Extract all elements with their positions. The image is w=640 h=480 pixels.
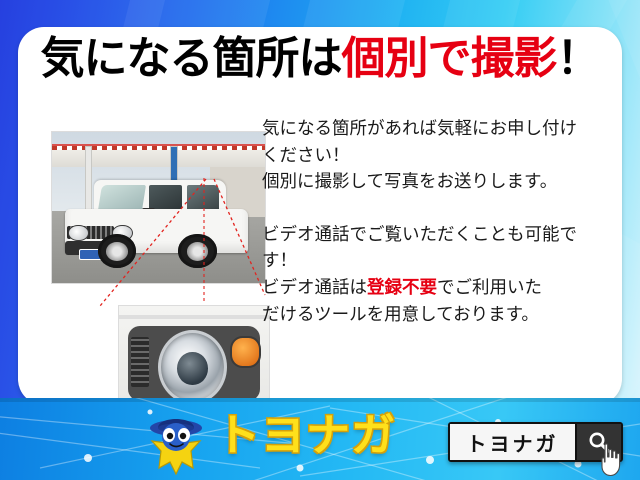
headline-part-3: ！: [557, 34, 600, 83]
paragraph-2-line-3: ビデオ通話は登録不要でご利用いた: [262, 274, 610, 301]
paragraph-2-line-4: だけるツールを用意しております。: [262, 301, 610, 328]
paragraph-2-line-2: す！: [262, 247, 610, 274]
page-title: 気になる箇所は個別で撮影！: [18, 37, 622, 81]
description-text-block: 気になる箇所があれば気軽にお申し付け ください！ 個別に撮影して写真をお送りしま…: [262, 115, 610, 327]
screenshot-root: 気になる箇所は個別で撮影！: [0, 0, 640, 480]
content-card: 気になる箇所は個別で撮影！: [18, 27, 622, 405]
paragraph-1-line-2: ください！: [262, 142, 610, 169]
vehicle-illustration: [65, 182, 248, 267]
headline-part-1: 気になる箇所は: [41, 34, 342, 83]
brand-logo-text: トヨナガ: [216, 414, 396, 458]
main-vehicle-photo: [51, 131, 266, 284]
headlight-detail-photo: [118, 305, 270, 405]
paragraph-2-line-1: ビデオ通話でご覧いただくことも可能で: [262, 221, 610, 248]
paragraph-1-line-1: 気になる箇所があれば気軽にお申し付け: [262, 115, 610, 142]
paragraph-1-line-3: 個別に撮影して写真をお送りします。: [262, 168, 610, 195]
video-call-prefix: ビデオ通話は: [262, 277, 367, 297]
paragraph-spacer: [262, 195, 610, 221]
no-registration-highlight: 登録不要: [367, 277, 437, 297]
toyonaga-mascot-icon: [145, 412, 207, 476]
search-input[interactable]: トヨナガ: [450, 424, 575, 460]
video-call-suffix: でご利用いた: [437, 277, 542, 297]
hand-pointer-cursor-icon: [596, 443, 626, 477]
headline-part-highlight: 個別で撮影: [342, 34, 557, 83]
